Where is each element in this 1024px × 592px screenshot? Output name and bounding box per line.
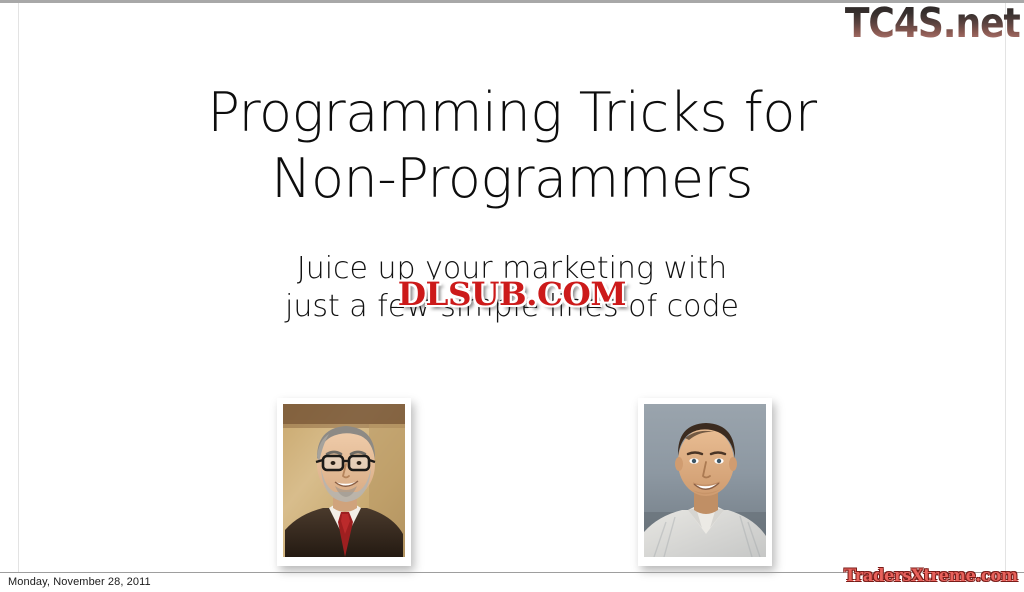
speaker-photo-right-image xyxy=(644,404,766,557)
speaker-photo-left-graphic xyxy=(283,404,405,557)
speaker-photo-left-image xyxy=(283,404,405,557)
footer-date: Monday, November 28, 2011 xyxy=(8,575,151,589)
presentation-slide: TC4S.net Programming Tricks for Non-Prog… xyxy=(0,0,1024,592)
page-subtitle: Juice up your marketing with just a few … xyxy=(0,250,1024,326)
watermark-tradersxtreme: TradersXtreme.com xyxy=(844,566,1018,586)
brand-logo-text: TC4S.net xyxy=(845,3,1020,44)
subtitle-line-2: just a few simple lines of code xyxy=(0,288,1024,326)
speaker-photo-left xyxy=(277,398,411,566)
subtitle-line-1: Juice up your marketing with xyxy=(0,250,1024,288)
speaker-photo-right xyxy=(638,398,772,566)
title-line-2: Non-Programmers xyxy=(0,146,1024,212)
brand-logo: TC4S.net xyxy=(830,0,1020,46)
page-title: Programming Tricks for Non-Programmers xyxy=(0,80,1024,212)
title-line-1: Programming Tricks for xyxy=(0,80,1024,146)
speaker-photo-right-graphic xyxy=(644,404,766,557)
